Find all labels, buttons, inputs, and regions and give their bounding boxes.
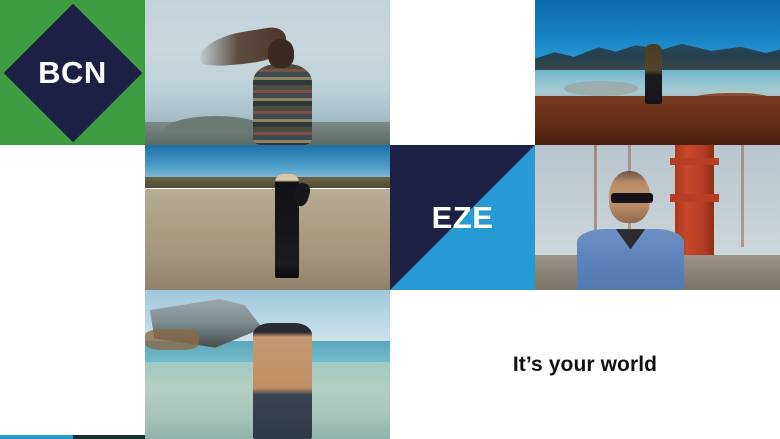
photo-eze — [535, 0, 780, 145]
airport-code-bcn: BCN — [0, 0, 145, 145]
airport-code-lax: LAX — [0, 435, 145, 439]
tagline-panel: It’s your world — [390, 290, 780, 439]
tile-eze[interactable]: EZE — [390, 145, 535, 290]
photo-eze-image — [535, 0, 780, 145]
photo-lax — [145, 145, 390, 290]
photo-bcn-image — [145, 0, 390, 145]
photo-lax-brush-line — [145, 177, 390, 189]
photo-bcn-head — [268, 39, 295, 68]
photo-puj-image — [145, 290, 390, 439]
photo-eze-salt-flat — [564, 81, 638, 96]
photo-oak-sunglasses — [611, 193, 653, 203]
photo-oak-cable — [741, 145, 744, 247]
tile-lax[interactable]: LAX — [0, 435, 145, 439]
tile-bcn[interactable]: BCN — [0, 0, 145, 145]
airport-code-eze: EZE — [390, 145, 535, 290]
photo-puj-swimmer — [253, 323, 312, 439]
brand-tagline: It’s your world — [513, 353, 657, 377]
photo-oak — [535, 145, 780, 290]
brand-identity-board: BCN EZE LAX — [0, 0, 780, 439]
photo-oak-image — [535, 145, 780, 290]
photo-bcn — [145, 0, 390, 145]
photo-lax-sky — [145, 145, 390, 180]
photo-oak-tower-crossbar — [670, 194, 719, 201]
photo-puj — [145, 290, 390, 439]
photo-puj-rust — [145, 329, 199, 350]
photo-oak-tower-crossbar — [670, 158, 719, 165]
photo-lax-desert-floor — [145, 189, 390, 291]
photo-lax-image — [145, 145, 390, 290]
photo-eze-traveler — [645, 44, 662, 105]
photo-bcn-sweater — [253, 64, 312, 145]
